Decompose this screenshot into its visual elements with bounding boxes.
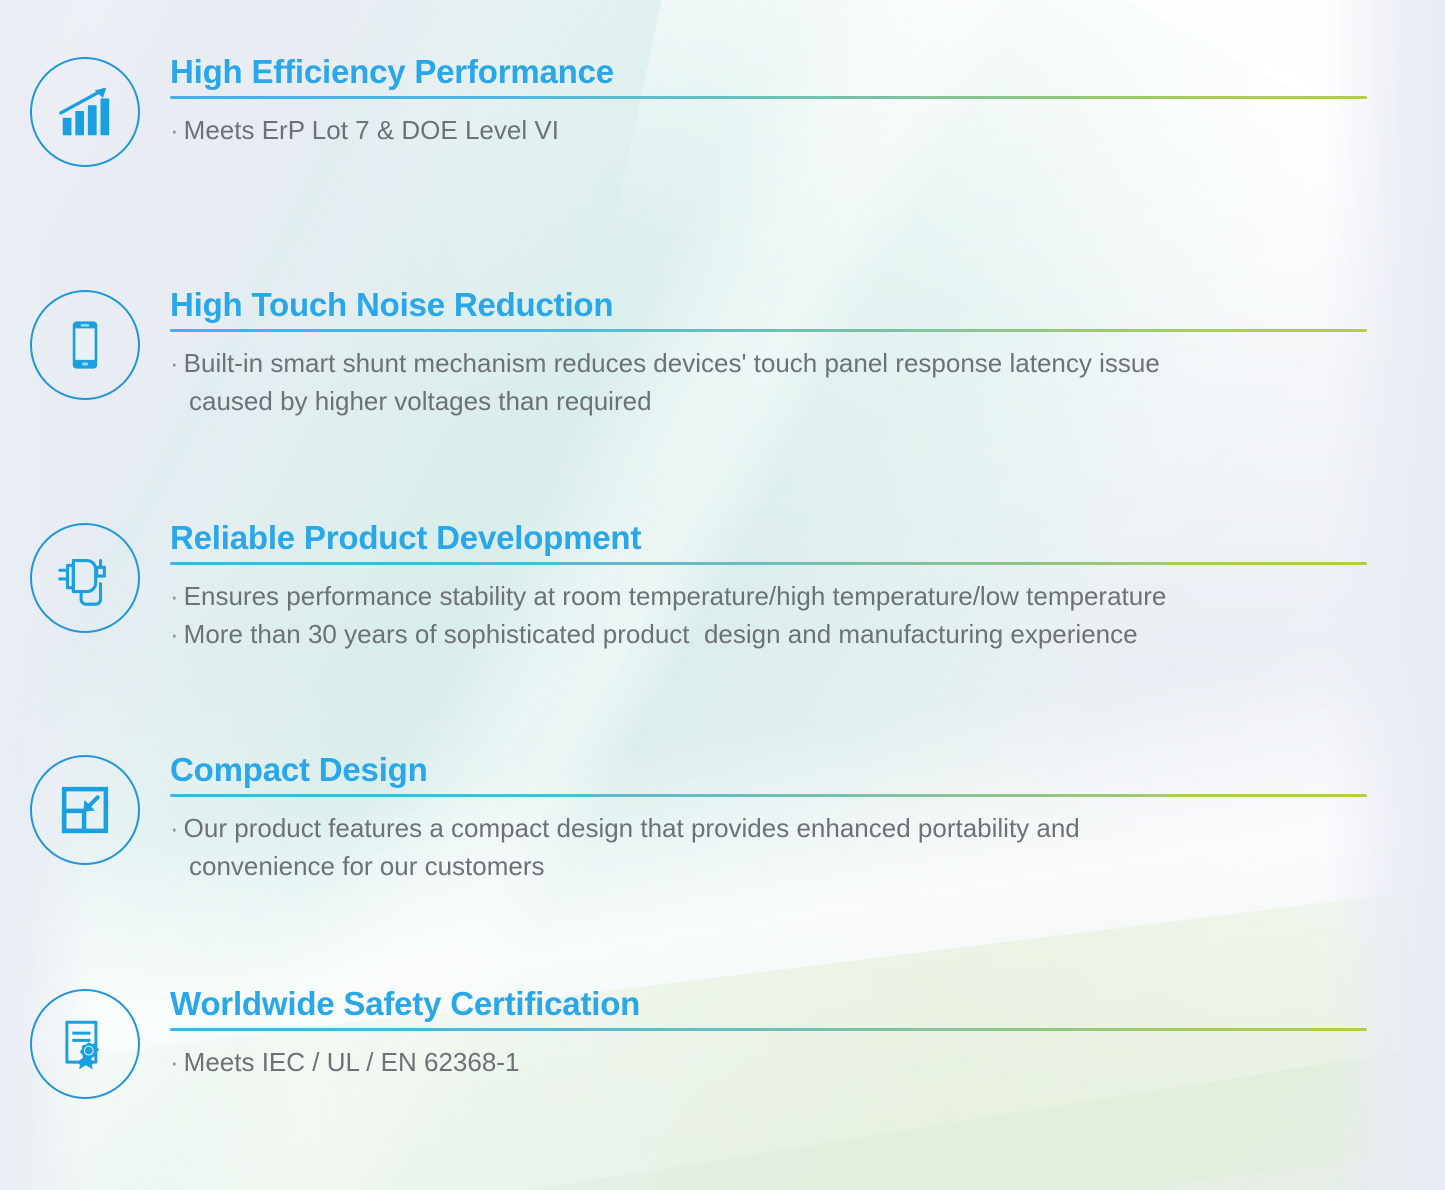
feature-divider [170,96,1367,99]
bullet-line: ·Our product features a compact design t… [170,809,1367,847]
feature-divider [170,794,1367,797]
feature-item-high-touch-noise-reduction: High Touch Noise Reduction ·Built-in sma… [0,288,1445,420]
bullet-marker: · [170,1047,184,1077]
feature-highlights-page: High Efficiency Performance ·Meets ErP L… [0,0,1445,1190]
bar-chart-growth-icon [30,57,140,167]
bullet-text: Meets ErP Lot 7 & DOE Level VI [184,115,559,145]
compact-resize-icon [30,755,140,865]
bullet-marker: · [170,619,184,649]
feature-icon-slot [0,55,170,167]
feature-body: Reliable Product Development ·Ensures pe… [170,521,1445,653]
bullet-continuation: caused by higher voltages than required [170,382,1367,420]
bullet-line: ·Meets IEC / UL / EN 62368-1 [170,1043,1367,1081]
bullet-line: ·Built-in smart shunt mechanism reduces … [170,344,1367,382]
feature-divider [170,329,1367,332]
feature-bullets: ·Meets IEC / UL / EN 62368-1 [170,1043,1367,1081]
feature-item-worldwide-safety-certification: Worldwide Safety Certification ·Meets IE… [0,987,1445,1099]
smartphone-icon [30,290,140,400]
feature-divider [170,1028,1367,1031]
bullet-continuation: convenience for our customers [170,847,1367,885]
feature-icon-slot [0,521,170,633]
feature-item-high-efficiency-performance: High Efficiency Performance ·Meets ErP L… [0,55,1445,167]
feature-body: Compact Design ·Our product features a c… [170,753,1445,885]
feature-title: High Efficiency Performance [170,55,1367,90]
bullet-marker: · [170,348,184,378]
feature-body: High Touch Noise Reduction ·Built-in sma… [170,288,1445,420]
power-adapter-icon [30,523,140,633]
feature-icon-slot [0,987,170,1099]
feature-title: High Touch Noise Reduction [170,288,1367,323]
feature-body: High Efficiency Performance ·Meets ErP L… [170,55,1445,149]
bullet-text: Built-in smart shunt mechanism reduces d… [184,348,1160,378]
feature-bullets: ·Ensures performance stability at room t… [170,577,1367,653]
feature-item-compact-design: Compact Design ·Our product features a c… [0,753,1445,885]
bullet-line: ·Ensures performance stability at room t… [170,577,1367,615]
feature-bullets: ·Our product features a compact design t… [170,809,1367,885]
feature-title: Compact Design [170,753,1367,788]
feature-divider [170,562,1367,565]
certificate-award-icon [30,989,140,1099]
feature-body: Worldwide Safety Certification ·Meets IE… [170,987,1445,1081]
bullet-marker: · [170,813,184,843]
bullet-text: Meets IEC / UL / EN 62368-1 [184,1047,520,1077]
feature-item-reliable-product-development: Reliable Product Development ·Ensures pe… [0,521,1445,653]
bullet-marker: · [170,115,184,145]
bullet-text: More than 30 years of sophisticated prod… [184,619,1138,649]
bullet-line: ·More than 30 years of sophisticated pro… [170,615,1367,653]
feature-bullets: ·Built-in smart shunt mechanism reduces … [170,344,1367,420]
feature-icon-slot [0,753,170,865]
feature-title: Reliable Product Development [170,521,1367,556]
bullet-text: Ensures performance stability at room te… [184,581,1167,611]
bullet-marker: · [170,581,184,611]
bullet-line: ·Meets ErP Lot 7 & DOE Level VI [170,111,1367,149]
feature-icon-slot [0,288,170,400]
feature-bullets: ·Meets ErP Lot 7 & DOE Level VI [170,111,1367,149]
feature-title: Worldwide Safety Certification [170,987,1367,1022]
bullet-text: Our product features a compact design th… [184,813,1080,843]
